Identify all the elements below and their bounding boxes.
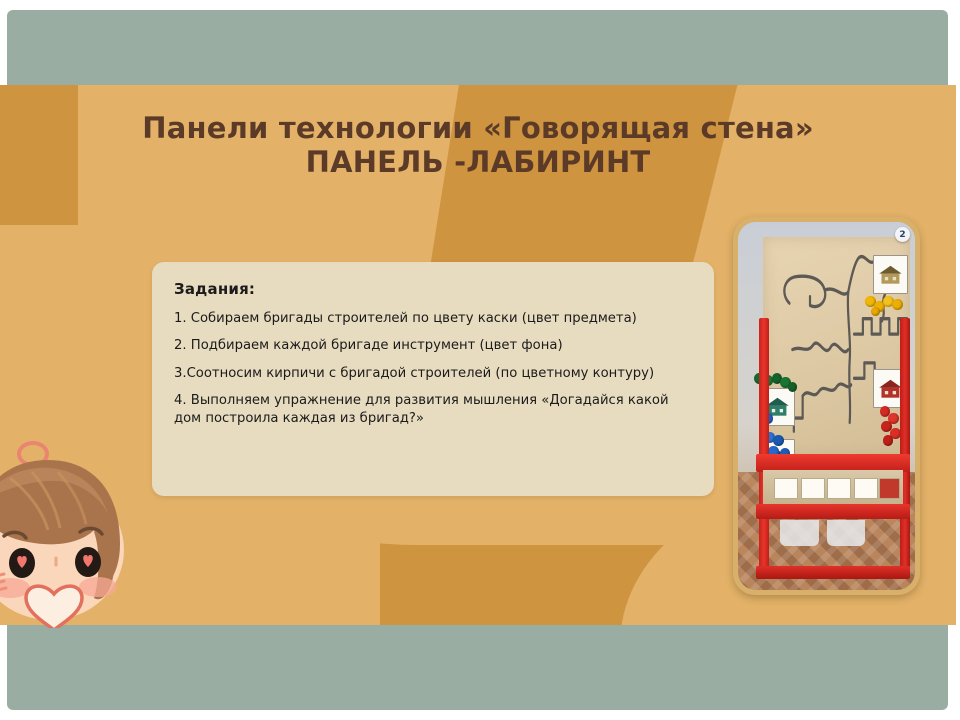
easel-shelf [763,470,903,505]
peg-yellow [892,299,903,310]
task-card: Задания: 1. Собираем бригады строителей … [152,262,714,496]
storage-bin [827,520,866,546]
peg-red [883,435,893,445]
house-icon [877,260,904,289]
easel-rail-middle [756,504,910,519]
cartoon-girl-illustration [0,432,156,628]
shelf-card [879,478,901,499]
task-list-item: 4. Выполняем упражнение для развития мыш… [174,392,692,427]
maze-panel-photo: 2 [733,217,920,595]
peg-yellow [871,307,880,317]
easel-leg-right [900,318,910,568]
girl-face-icon [0,432,156,628]
photo-image: 2 [738,222,915,590]
shelf-card [827,478,851,499]
easel-rail-bottom [756,566,910,579]
storage-bin [780,520,819,546]
shelf-card [801,478,825,499]
shelf-card [774,478,798,499]
task-list: 1. Собираем бригады строителей по цвету … [174,310,692,427]
shelf-card [854,478,878,499]
house-card-yellow [873,255,909,294]
easel-leg-left [759,318,769,568]
task-list-item: 3.Соотносим кирпичи с бригадой строителе… [174,365,692,382]
slide-canvas: Панели технологии «Говорящая стена» ПАНЕ… [0,0,960,720]
task-card-heading: Задания: [174,280,692,298]
task-list-item: 1. Собираем бригады строителей по цвету … [174,310,692,327]
task-list-item: 2. Подбираем каждой бригаде инструмент (… [174,337,692,354]
photo-number-badge: 2 [895,227,910,242]
